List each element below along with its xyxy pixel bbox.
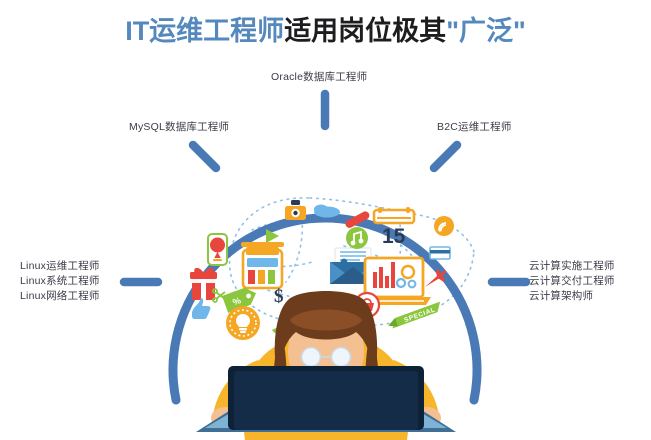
laptop-screen [234,371,418,430]
calendar-day-number: 15 [382,225,406,248]
music-note-icon [346,227,368,249]
poster-canvas: IT运维工程师适用岗位极其"广泛" [0,0,651,440]
label-linux-network-engineer: Linux网络工程师 [20,289,100,304]
dollar-sign-icon: $ [274,286,284,307]
label-cloud-architect: 云计算架构师 [529,289,615,304]
label-linux-ops-engineer: Linux运维工程师 [20,259,100,274]
shop-stall-icon [241,242,284,288]
label-oracle-dba-engineer: Oracle数据库工程师 [271,70,367,85]
dot-icon [341,259,348,266]
gift-box-icon [190,268,217,300]
label-cloud-implementation-engineer: 云计算实施工程师 [529,259,615,274]
svg-text:$: $ [274,286,284,307]
spoke-upper-left [193,145,216,168]
camera-icon [285,200,306,220]
special-ribbon-icon: SPECIAL [387,302,444,330]
label-group-cloud: 云计算实施工程师 云计算交付工程师 云计算架构师 [529,259,615,304]
card-icon [430,247,450,259]
bulb-diagram-illustration: % [0,0,651,440]
phone-location-icon [208,234,227,265]
spoke-upper-right [434,145,457,168]
cloud-icon [314,205,340,218]
wifi-signal-icon [434,216,454,236]
laptop [196,366,456,432]
label-linux-system-engineer: Linux系统工程师 [20,274,100,289]
lightbulb-badge-icon [226,306,260,340]
label-b2c-ops-engineer: B2C运维工程师 [437,120,512,135]
label-mysql-dba-engineer: MySQL数据库工程师 [129,120,229,135]
label-cloud-delivery-engineer: 云计算交付工程师 [529,274,615,289]
label-group-linux: Linux运维工程师 Linux系统工程师 Linux网络工程师 [20,259,100,304]
thumbs-up-icon [192,298,210,319]
